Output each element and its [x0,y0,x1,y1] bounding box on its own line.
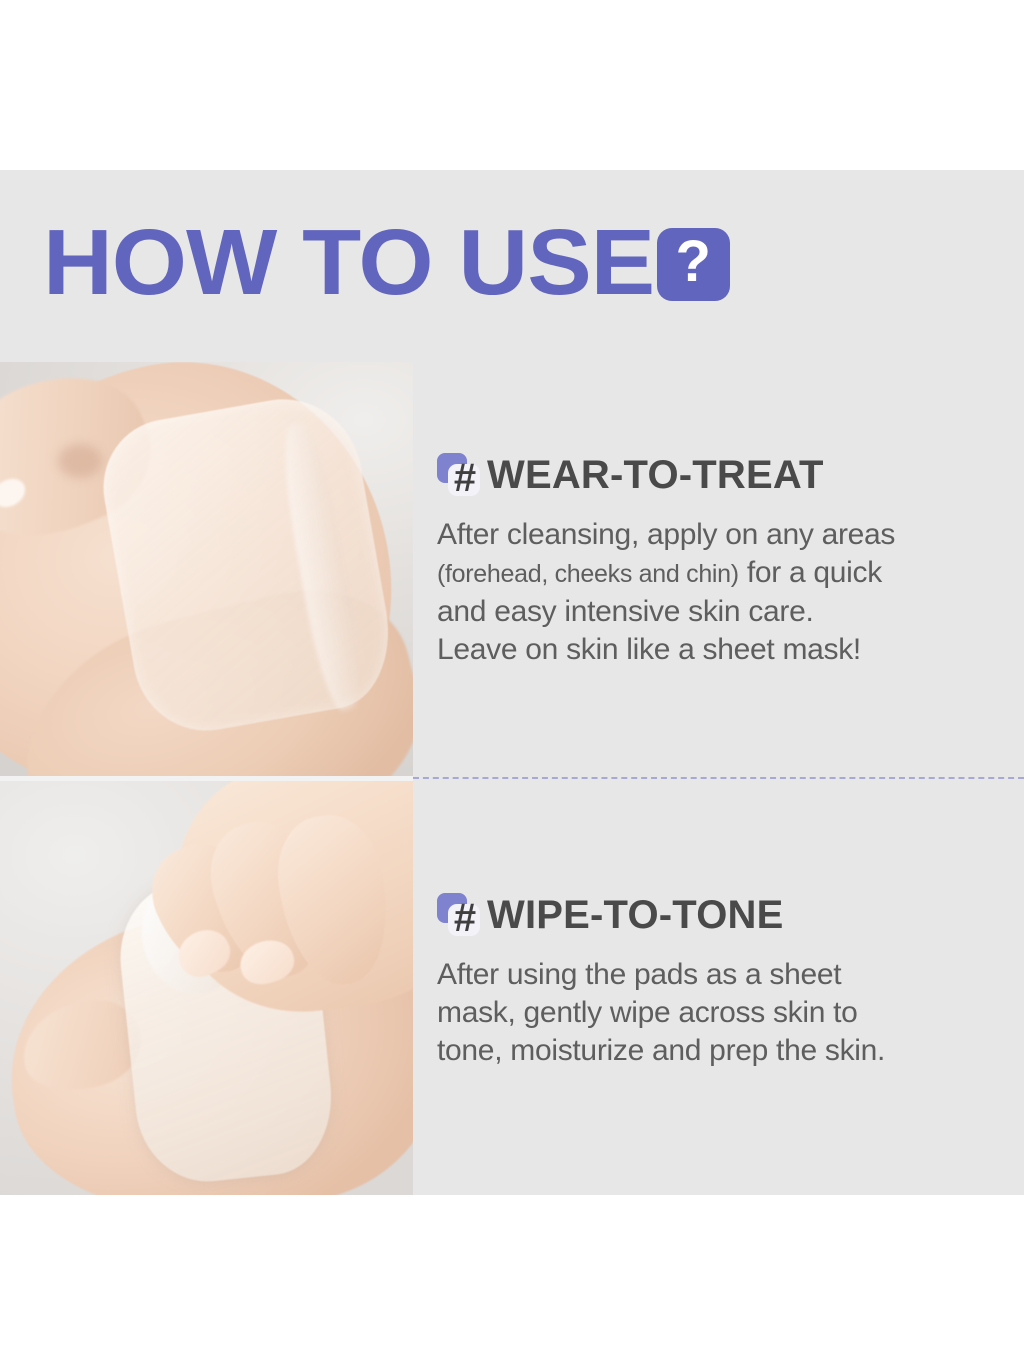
hash-badge-icon: # [437,451,483,499]
photo-wear-to-treat [0,362,413,776]
photo-column [0,362,413,1195]
question-mark-badge: ? [657,228,730,301]
body-line: After using the pads as a sheet [437,956,1007,994]
body-line: After cleansing, apply on any areas [437,516,1007,554]
knuckle-shadow [58,444,102,478]
hash-badge-icon: # [437,891,483,939]
section-heading: # WEAR-TO-TREAT [437,444,1007,506]
body-line: (forehead, cheeks and chin) for a quick [437,554,1007,593]
photo-wipe-to-tone [0,781,413,1195]
body-line: tone, moisturize and prep the skin. [437,1032,1007,1070]
body-line-tail: for a quick [739,556,882,589]
hash-glyph: # [448,456,482,500]
section-body: After using the pads as a sheet mask, ge… [437,956,1007,1070]
question-mark-glyph: ? [675,233,710,291]
section-wipe-to-tone: # WIPE-TO-TONE After using the pads as a… [437,884,1007,1070]
page-title-row: HOW TO USE ? [43,212,730,312]
page-title: HOW TO USE [43,216,654,309]
infographic-page: HOW TO USE ? [0,0,1024,1365]
section-body: After cleansing, apply on any areas (for… [437,516,1007,669]
section-heading: # WIPE-TO-TONE [437,884,1007,946]
section-wear-to-treat: # WEAR-TO-TREAT After cleansing, apply o… [437,444,1007,669]
body-line: and easy intensive skin care. [437,593,1007,631]
section-divider [413,777,1024,779]
section-heading-label: WEAR-TO-TREAT [487,453,824,497]
section-heading-label: WIPE-TO-TONE [487,893,783,937]
hash-glyph: # [448,896,482,940]
body-line: Leave on skin like a sheet mask! [437,631,1007,669]
body-line-emphasis-small: (forehead, cheeks and chin) [437,560,739,588]
body-line: mask, gently wipe across skin to [437,994,1007,1032]
